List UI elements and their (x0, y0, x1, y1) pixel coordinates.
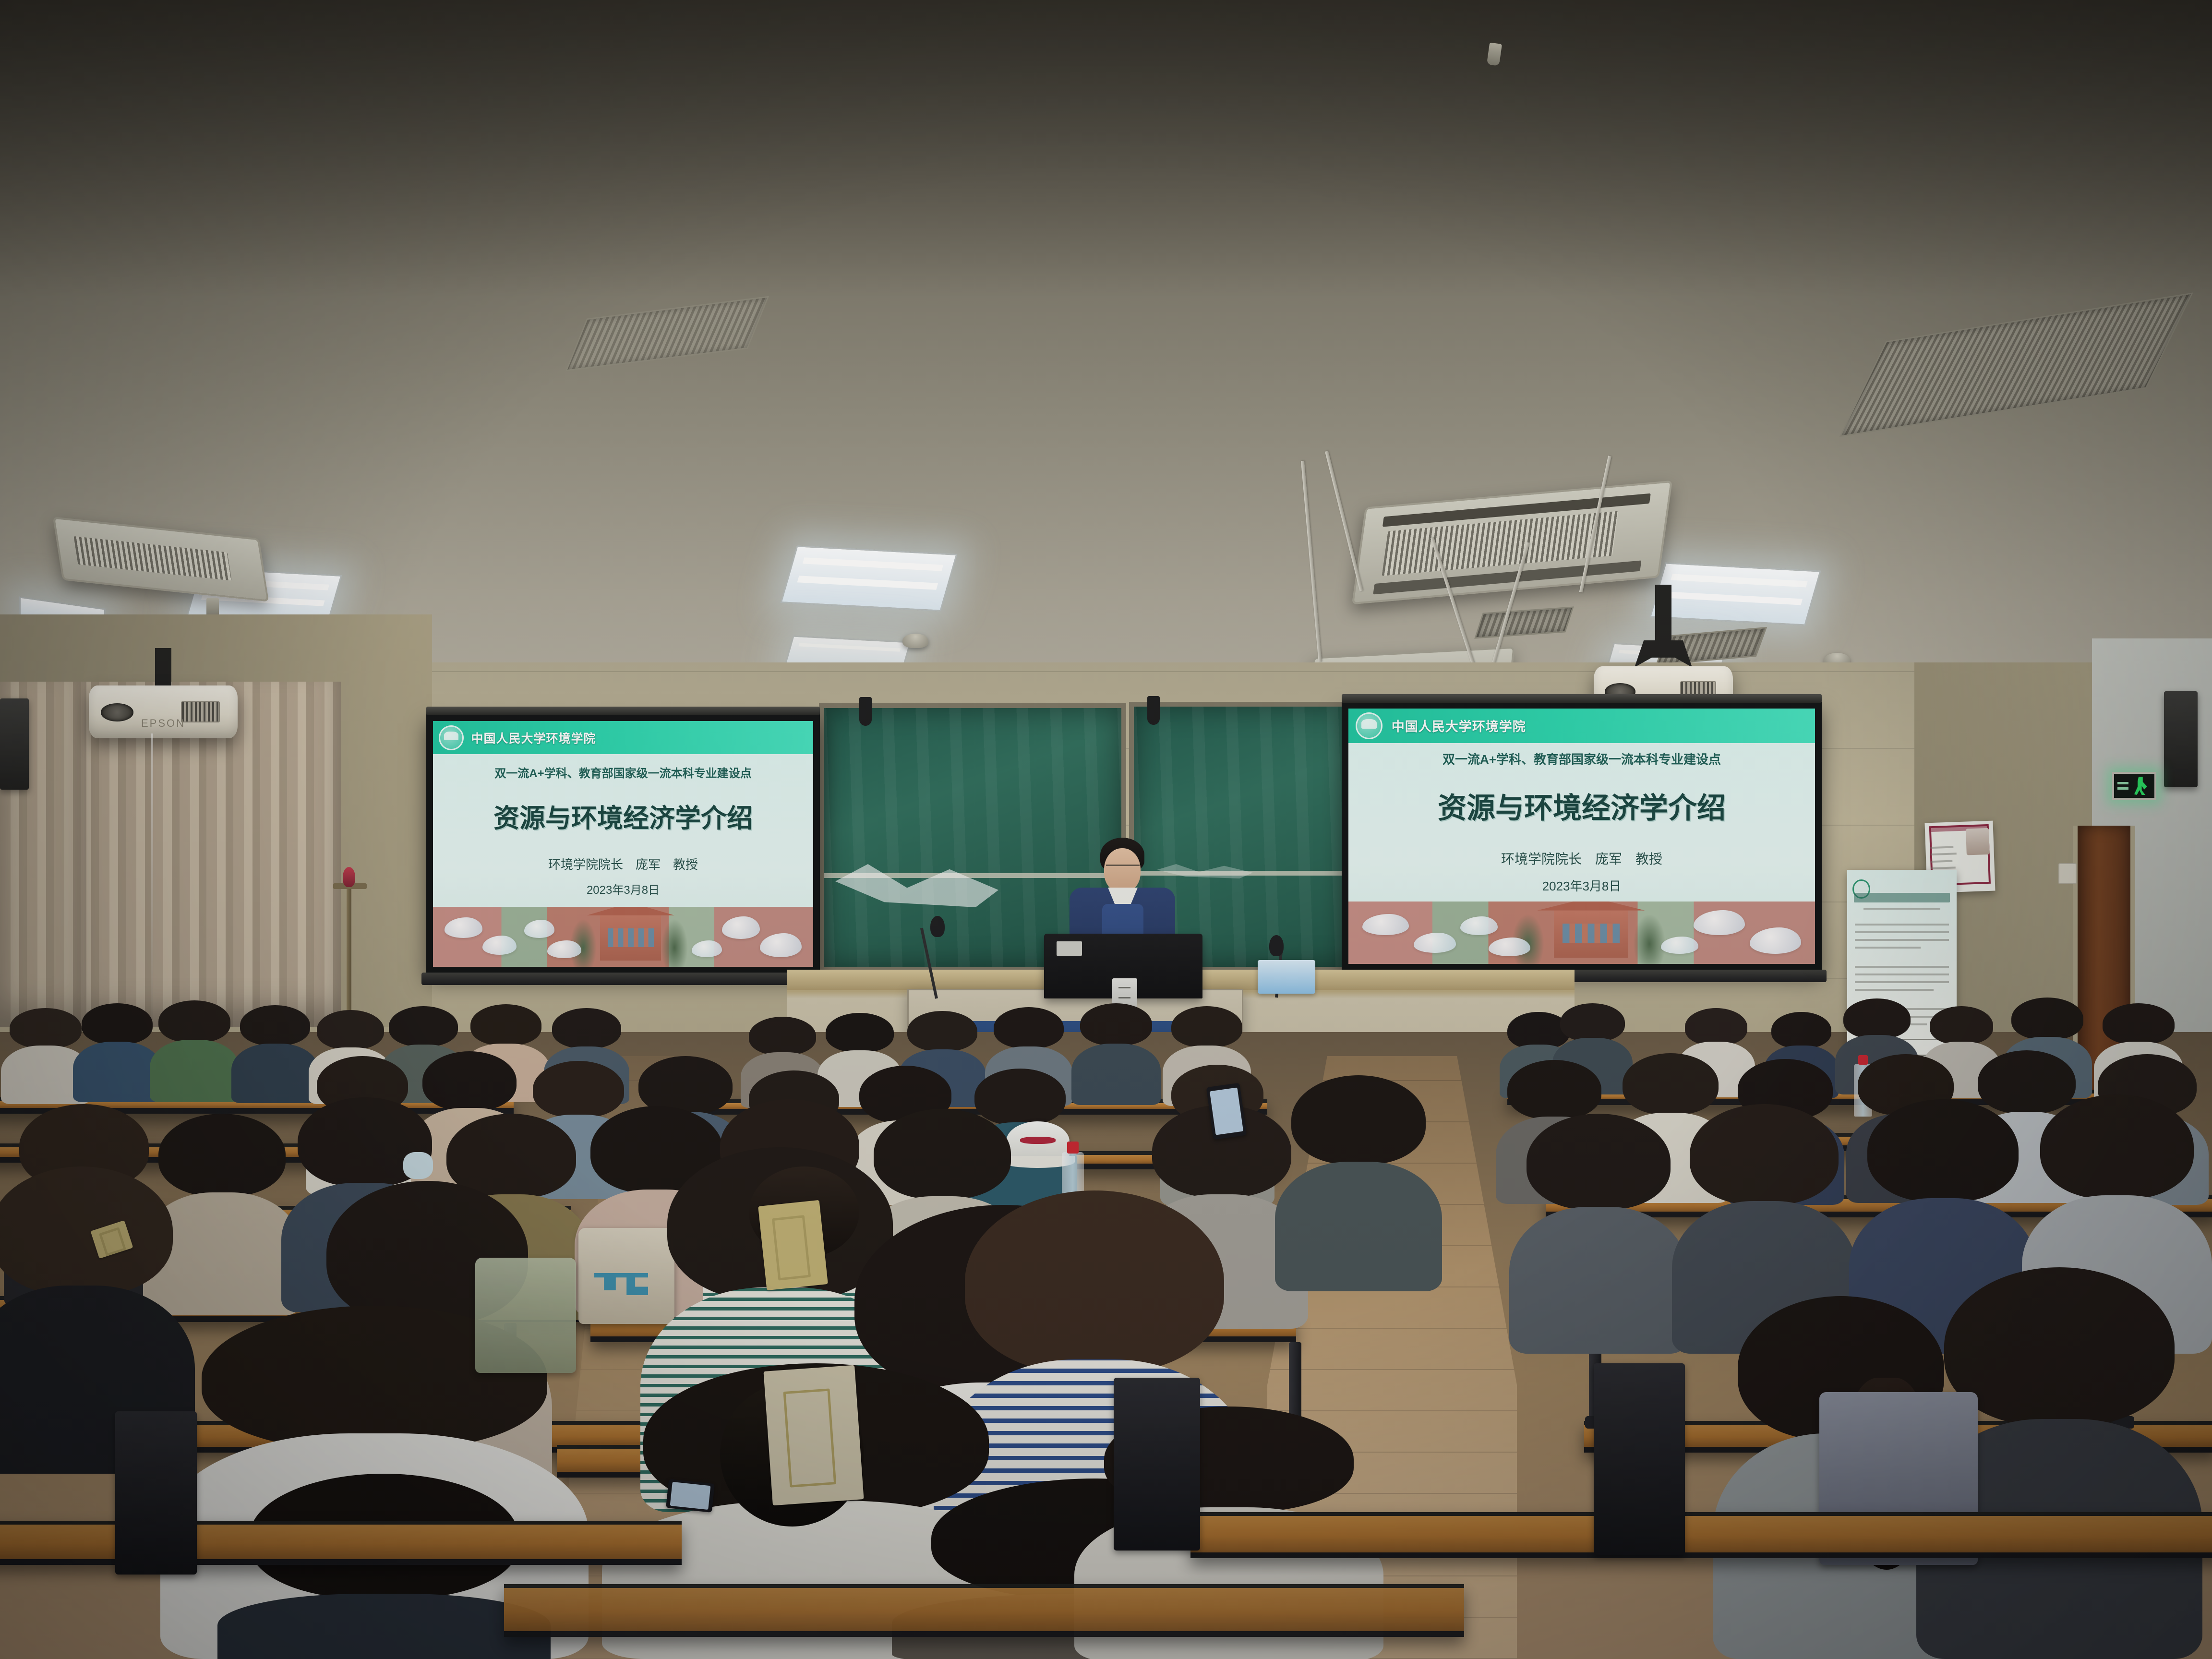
student-shoulders (73, 1042, 161, 1102)
slide-body: 双一流A+学科、教育部国家级一流本科专业建设点 资源与环境经济学介绍 环境学院院… (433, 754, 813, 906)
student-head (907, 1011, 977, 1051)
tree-decor (1633, 914, 1666, 964)
slide-date: 2023年3月8日 (587, 880, 660, 897)
screen-top-roller (426, 707, 820, 715)
mobile-phone[interactable] (666, 1479, 715, 1513)
student-head (749, 1017, 816, 1055)
poster-text-line (1855, 966, 1949, 968)
university-crest-icon (1356, 712, 1382, 739)
magnolia-flower (1362, 914, 1409, 935)
exit-text-glyphs (2117, 780, 2129, 790)
slide-body: 双一流A+学科、教育部国家级一流本科专业建设点 资源与环境经济学介绍 环境学院院… (1348, 743, 1815, 902)
desk-row-front (504, 1584, 1464, 1637)
projector-brand-label: EPSON (89, 717, 238, 730)
magnolia-flower (692, 940, 722, 957)
student-head (994, 1007, 1064, 1048)
student-head (826, 1013, 894, 1052)
poster-text-line (1855, 989, 1934, 991)
student (240, 1005, 310, 1103)
board-clamp[interactable] (859, 697, 872, 726)
ceiling-light-panel (780, 545, 957, 612)
emergency-exit-sign (2112, 772, 2156, 800)
student-head (552, 1008, 621, 1048)
magnolia-flower (1750, 927, 1801, 954)
magnolia-flower (722, 916, 760, 939)
slide-left: 中国人民大学环境学院 双一流A+学科、教育部国家级一流本科专业建设点 资源与环境… (433, 721, 813, 967)
campus-building-photo (600, 912, 661, 961)
student (1291, 1075, 1426, 1291)
student (82, 1003, 153, 1102)
student-head (10, 1008, 82, 1048)
student-head (240, 1005, 310, 1046)
slide-header: 中国人民大学环境学院 (433, 721, 813, 754)
seat-back (115, 1411, 197, 1575)
student-head (1560, 1003, 1625, 1042)
student (1944, 1267, 2175, 1659)
student-shoulders (1275, 1162, 1442, 1291)
hair-claw-clip (758, 1200, 828, 1290)
student-head (965, 1190, 1224, 1373)
slide-presenter: 环境学院院长 庞军 教授 (548, 855, 698, 873)
magnolia-flower (1694, 910, 1745, 935)
seat-back (1594, 1363, 1685, 1555)
mobile-phone[interactable] (1206, 1083, 1247, 1140)
slide-subtitle: 双一流A+学科、教育部国家级一流本科专业建设点 (494, 764, 751, 781)
student (158, 1000, 230, 1102)
coat-stand-finial (343, 867, 355, 887)
university-crest-icon (439, 725, 464, 750)
magnolia-flower (1414, 933, 1455, 953)
poster-text-line (1855, 974, 1949, 975)
running-man-icon (2134, 777, 2147, 795)
student-head (158, 1114, 286, 1196)
student-head (1843, 998, 1911, 1039)
ac-grille (73, 536, 232, 581)
slide-photo-band (1348, 902, 1815, 964)
student-head (1291, 1075, 1426, 1165)
magnolia-flower (1489, 938, 1530, 956)
student-head (1080, 1003, 1152, 1046)
light-switch[interactable] (2058, 863, 2077, 884)
slide-right: 中国人民大学环境学院 双一流A+学科、教育部国家级一流本科专业建设点 资源与环境… (1348, 709, 1815, 964)
poster-heading (1854, 893, 1950, 902)
left-projection-screen: 中国人民大学环境学院 双一流A+学科、教育部国家级一流本科专业建设点 资源与环境… (426, 714, 820, 974)
poster-text-line (1855, 939, 1949, 941)
student-shoulders (231, 1044, 318, 1103)
tissue-box (1258, 960, 1315, 994)
student-head (422, 1051, 517, 1111)
student (158, 1114, 286, 1315)
slide-header: 中国人民大学环境学院 (1348, 709, 1815, 743)
screen-bottom-bar (421, 973, 825, 985)
campus-building-photo (1554, 906, 1629, 958)
student-head (1930, 1006, 1993, 1045)
cap-logo (1020, 1137, 1056, 1144)
student-shoulders (150, 1040, 239, 1102)
presenter-glasses (1106, 865, 1140, 871)
magnolia-flower (482, 936, 517, 955)
desk-row-front (0, 1521, 682, 1565)
student (1527, 1114, 1671, 1354)
ceiling-shadow (0, 0, 2212, 298)
student-head (874, 1109, 1011, 1199)
student-head (1685, 1008, 1747, 1046)
magnolia-flower (445, 917, 482, 938)
face-mask (403, 1152, 433, 1179)
poster-text-line (1855, 947, 1921, 949)
white-baseball-cap (1006, 1121, 1070, 1162)
microphone-head (930, 916, 945, 937)
microphone-head (1269, 935, 1284, 956)
student-shoulders (217, 1594, 551, 1659)
student (1080, 1003, 1152, 1105)
wall-speaker (2164, 691, 2198, 787)
student-head (2103, 1003, 2175, 1045)
student (250, 1474, 518, 1659)
student-head (1507, 1060, 1601, 1119)
tree-decor (661, 919, 687, 967)
student-head (470, 1004, 541, 1046)
slide-photo-band (433, 907, 813, 967)
slide-subtitle: 双一流A+学科、教育部国家级一流本科专业建设点 (1443, 750, 1721, 768)
projector-left: EPSON (89, 685, 238, 738)
student-head (317, 1010, 384, 1049)
projector-body: EPSON (89, 685, 238, 738)
student-head (1171, 1006, 1242, 1047)
student-head (1527, 1114, 1671, 1210)
right-projection-screen: 中国人民大学环境学院 双一流A+学科、教育部国家级一流本科专业建设点 资源与环境… (1342, 702, 1822, 971)
smoke-detector (902, 634, 928, 648)
desk-row-front (1190, 1512, 2212, 1558)
magnolia-flower (1460, 916, 1498, 935)
poster-illustration (1966, 828, 1990, 855)
student-head (0, 1166, 173, 1295)
student-shoulders (1509, 1207, 1688, 1354)
slide-institution: 中国人民大学环境学院 (1392, 716, 1526, 735)
backpack (475, 1258, 576, 1373)
magnolia-flower (524, 920, 554, 938)
magnolia-flower (760, 933, 802, 957)
slide-institution: 中国人民大学环境学院 (471, 729, 596, 746)
projector-mount (155, 648, 171, 687)
magnolia-flower (547, 940, 581, 959)
seat-back (1114, 1378, 1200, 1551)
student-head (389, 1006, 458, 1046)
slide-title: 资源与环境经济学介绍 (1438, 785, 1726, 827)
projector-mount-pole (1655, 585, 1671, 642)
projector-light-beam (151, 733, 153, 1041)
slide-presenter: 环境学院院长 庞军 教授 (1501, 849, 1662, 868)
student-head (1944, 1267, 2175, 1426)
student-head (1690, 1104, 1839, 1205)
laptop-sticker (1057, 941, 1082, 956)
student-head (1867, 1099, 2019, 1202)
student-shoulders (1071, 1044, 1161, 1105)
poster-text-line (1863, 908, 1940, 910)
poster-text-line (1855, 924, 1949, 926)
poster-text-line (1855, 981, 1949, 983)
student-head (82, 1003, 153, 1045)
wall-speaker (0, 698, 29, 790)
slide-date: 2023年3月8日 (1542, 877, 1622, 894)
slide-title: 资源与环境经济学介绍 (493, 797, 753, 835)
screen-top-roller (1342, 694, 1822, 703)
student-head (2011, 998, 2083, 1040)
poster-text-line (1855, 931, 1949, 933)
student-head (158, 1000, 230, 1043)
hair-claw-clip (763, 1365, 864, 1506)
student-head (2040, 1094, 2194, 1199)
student-head (1771, 1012, 1831, 1048)
lecture-hall-photo: EPSON EPSON 中国人民大学环境学院 双一流A+学科、教育部国家级一流本… (0, 0, 2212, 1659)
presenter-laptop[interactable] (1044, 934, 1202, 998)
ceiling-light-panel (1649, 562, 1821, 625)
student (10, 1008, 82, 1104)
magnolia-flower (1661, 937, 1698, 954)
board-clamp[interactable] (1147, 696, 1160, 725)
